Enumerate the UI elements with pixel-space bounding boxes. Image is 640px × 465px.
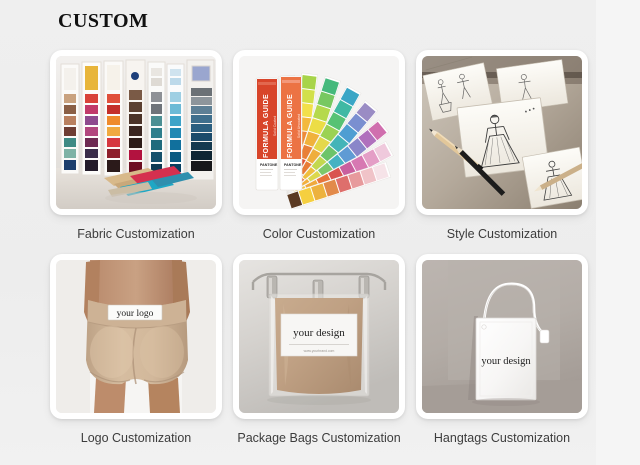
pantone-formula-guide-fan-photo: FORMULA GUIDE Solid Coated PANTONE FORMU… — [239, 56, 399, 209]
card-color-label: Color Customization — [263, 227, 376, 242]
card-color[interactable]: FORMULA GUIDE Solid Coated PANTONE FORMU… — [233, 50, 405, 242]
svg-text:Solid Uncoated: Solid Uncoated — [297, 114, 301, 138]
card-hangtags[interactable]: your design Hangtags Customization — [416, 254, 588, 446]
hangtag-mockup-photo: your design — [422, 260, 582, 413]
svg-text:FORMULA GUIDE: FORMULA GUIDE — [263, 94, 270, 158]
beige-shorts-logo-mockup-photo: your logo — [56, 260, 216, 413]
svg-text:your logo: your logo — [117, 309, 154, 319]
card-package-label: Package Bags Customization — [237, 431, 400, 446]
card-fabric-thumbnail[interactable] — [50, 50, 222, 215]
card-package-thumbnail[interactable]: your design www.yourbrand.com — [233, 254, 405, 419]
customization-card-grid: Fabric Customization — [50, 50, 570, 446]
card-style-thumbnail[interactable] — [416, 50, 588, 215]
svg-text:Solid Coated: Solid Coated — [273, 116, 277, 137]
card-logo[interactable]: your logo Logo Customization — [50, 254, 222, 446]
svg-text:PANTONE: PANTONE — [284, 163, 302, 167]
fabric-swatch-display-photo — [56, 56, 216, 209]
svg-text:your design: your design — [293, 327, 345, 339]
card-style-label: Style Customization — [447, 227, 557, 242]
card-hangtags-thumbnail[interactable]: your design — [416, 254, 588, 419]
package-bag-mockup-photo: your design www.yourbrand.com — [239, 260, 399, 413]
svg-text:www.yourbrand.com: www.yourbrand.com — [304, 349, 335, 353]
card-logo-thumbnail[interactable]: your logo — [50, 254, 222, 419]
svg-text:PANTONE: PANTONE — [260, 163, 278, 167]
svg-text:your design: your design — [481, 356, 531, 367]
card-logo-label: Logo Customization — [81, 431, 191, 446]
card-style[interactable]: Style Customization — [416, 50, 588, 242]
fashion-sketchbook-photo — [422, 56, 582, 209]
card-hangtags-label: Hangtags Customization — [434, 431, 570, 446]
card-fabric[interactable]: Fabric Customization — [50, 50, 222, 242]
card-package[interactable]: your design www.yourbrand.com Package Ba… — [233, 254, 405, 446]
card-fabric-label: Fabric Customization — [77, 227, 194, 242]
page-title: CUSTOM — [58, 10, 148, 33]
svg-text:FORMULA GUIDE: FORMULA GUIDE — [287, 94, 294, 158]
card-color-thumbnail[interactable]: FORMULA GUIDE Solid Coated PANTONE FORMU… — [233, 50, 405, 215]
